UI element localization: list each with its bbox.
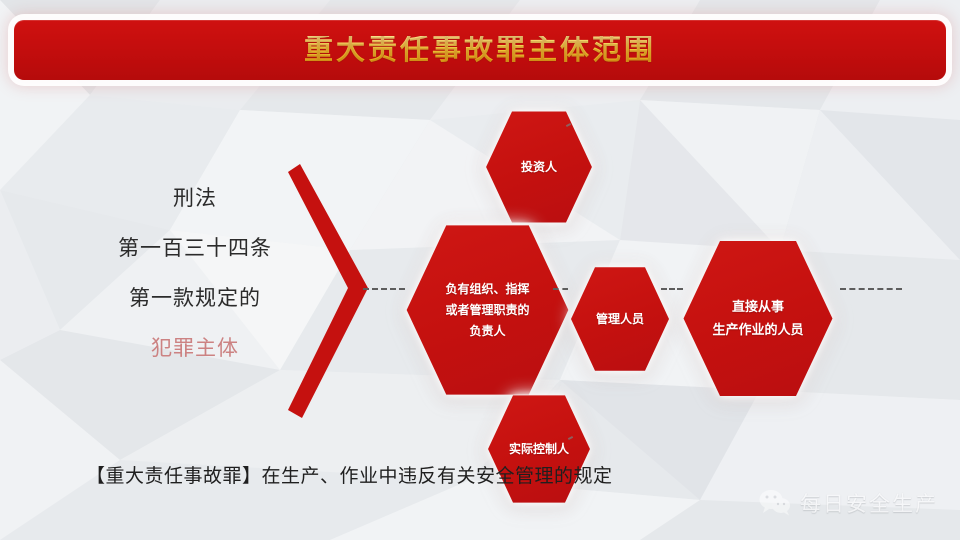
hex-node-manager[interactable]: 管理人员 xyxy=(570,264,670,374)
hex-node-investor-label: 投资人 xyxy=(515,157,563,178)
hex-node-investor[interactable]: 投资人 xyxy=(485,108,593,226)
hex-label-line: 投资人 xyxy=(521,157,557,178)
hex-label-line: 负有组织、指挥 xyxy=(445,279,529,300)
connector-dashed-right xyxy=(840,288,902,290)
connector-dashed-left xyxy=(363,288,405,290)
wechat-icon xyxy=(759,490,791,516)
connector-dashed-mid-2 xyxy=(661,288,683,290)
hex-node-worker[interactable]: 直接从事 生产作业的人员 xyxy=(682,236,834,401)
slide-title-bar: 重大责任事故罪主体范围 xyxy=(14,20,946,80)
watermark-text: 每日安全生产 xyxy=(800,488,938,518)
hex-node-actual-controller[interactable]: 实际控制人 xyxy=(487,392,591,506)
left-caption-line-3: 第一款规定的 xyxy=(95,288,295,309)
left-caption-line-1: 刑法 xyxy=(95,188,295,209)
hex-label-line: 或者管理职责的 xyxy=(445,300,529,321)
left-caption-line-2: 第一百三十四条 xyxy=(95,238,295,259)
hex-label-line: 管理人员 xyxy=(596,309,644,330)
hex-node-manager-label: 管理人员 xyxy=(590,309,650,330)
bottom-caption: 【重大责任事故罪】在生产、作业中违反有关安全管理的规定 xyxy=(86,461,613,488)
hex-node-worker-label: 直接从事 生产作业的人员 xyxy=(706,296,809,342)
hex-label-line: 负责人 xyxy=(445,321,529,342)
watermark: 每日安全生产 xyxy=(759,488,938,518)
hex-node-leader[interactable]: 负有组织、指挥 或者管理职责的 负责人 xyxy=(405,220,570,400)
hex-node-actual-controller-label: 实际控制人 xyxy=(503,439,575,460)
page-title: 重大责任事故罪主体范围 xyxy=(304,36,656,65)
hex-node-leader-label: 负有组织、指挥 或者管理职责的 负责人 xyxy=(439,279,535,342)
hex-label-line: 直接从事 xyxy=(712,296,803,319)
slide-canvas: 重大责任事故罪主体范围 刑法 第一百三十四条 第一款规定的 犯罪主体 投资人 负… xyxy=(0,0,960,540)
left-caption-block: 刑法 第一百三十四条 第一款规定的 犯罪主体 xyxy=(95,188,295,359)
hexagon-diagram: 投资人 负有组织、指挥 或者管理职责的 负责人 实际控制人 管理人员 xyxy=(330,96,920,466)
hex-label-line: 实际控制人 xyxy=(509,439,569,460)
connector-dashed-mid-1 xyxy=(553,288,568,290)
left-caption-line-4-accent: 犯罪主体 xyxy=(95,338,295,359)
hex-label-line: 生产作业的人员 xyxy=(712,319,803,342)
